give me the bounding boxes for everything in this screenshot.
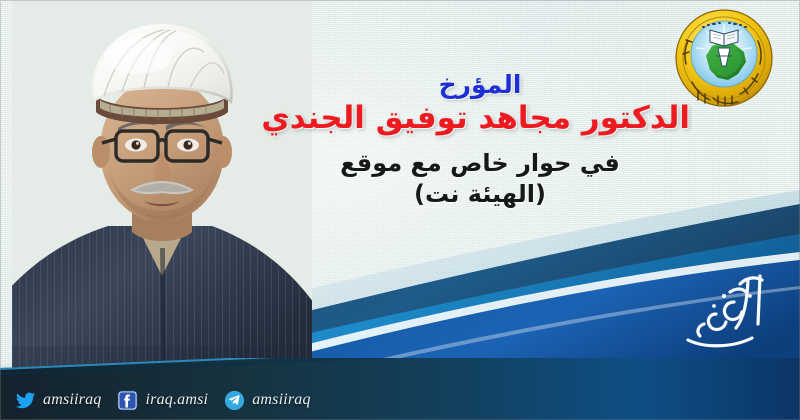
telegram-icon[interactable] <box>223 389 245 411</box>
social-handle-telegram: amsiiraq <box>252 391 311 409</box>
social-link-telegram[interactable]: amsiiraq <box>223 389 311 411</box>
social-handle-facebook: iraq.amsi <box>146 391 209 409</box>
promo-banner: المؤرخ الدكتور مجاهد توفيق الجندي في حوا… <box>0 0 800 420</box>
social-links-group: amsiiraq iraq.amsi <box>14 389 311 411</box>
twitter-icon[interactable] <box>14 389 36 411</box>
social-link-twitter[interactable]: amsiiraq <box>14 389 102 411</box>
social-link-facebook[interactable]: iraq.amsi <box>117 389 209 411</box>
amsi-emblem <box>672 4 776 112</box>
social-handle-twitter: amsiiraq <box>43 391 102 409</box>
headline-block: المؤرخ الدكتور مجاهد توفيق الجندي في حوا… <box>270 72 690 211</box>
headline-name: الدكتور مجاهد توفيق الجندي <box>270 100 690 138</box>
portrait-photo <box>12 0 312 370</box>
headline-subtitle-1: في حوار خاص مع موقع <box>270 147 690 179</box>
headline-kicker: المؤرخ <box>270 72 690 98</box>
social-bar: amsiiraq iraq.amsi <box>0 358 800 420</box>
facebook-icon[interactable] <box>117 389 139 411</box>
headline-subtitle-2: (الهيئة نت) <box>270 179 690 210</box>
